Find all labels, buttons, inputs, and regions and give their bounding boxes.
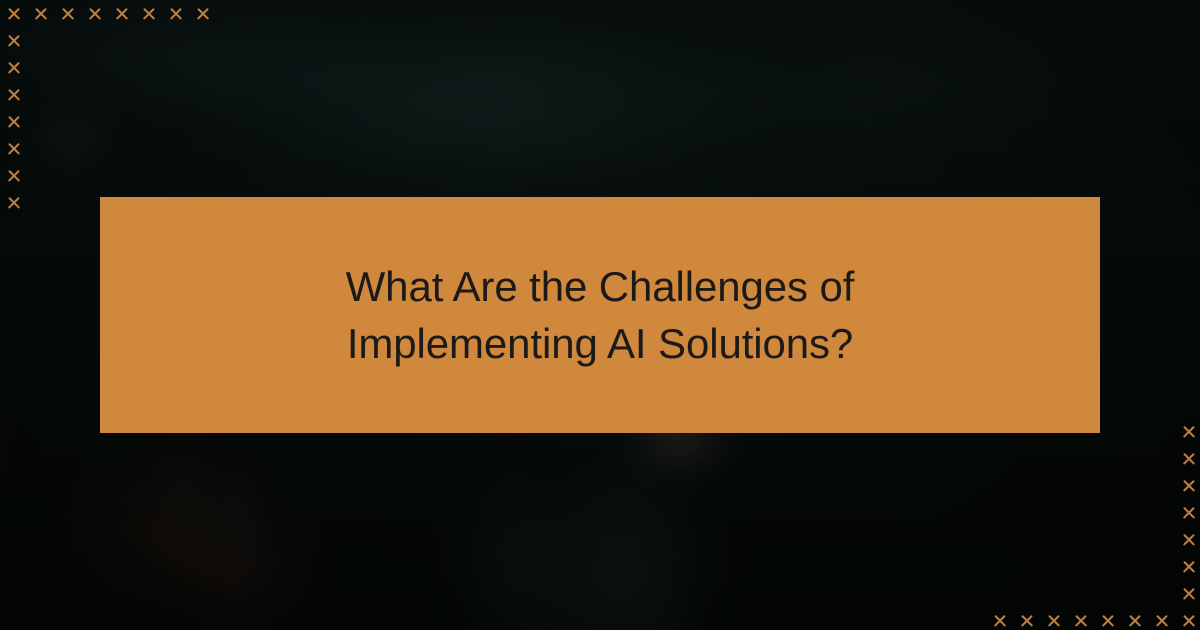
x-grid-spacer bbox=[108, 135, 135, 162]
x-grid-spacer bbox=[54, 135, 81, 162]
x-grid-spacer bbox=[81, 54, 108, 81]
x-mark-icon bbox=[1094, 607, 1121, 630]
x-grid-spacer bbox=[1121, 418, 1148, 445]
x-mark-icon bbox=[1040, 607, 1067, 630]
x-grid-spacer bbox=[986, 553, 1013, 580]
x-grid-spacer bbox=[1121, 553, 1148, 580]
x-grid-spacer bbox=[986, 580, 1013, 607]
x-mark-icon bbox=[1175, 445, 1200, 472]
x-grid-spacer bbox=[1013, 526, 1040, 553]
x-grid-spacer bbox=[1094, 580, 1121, 607]
x-grid-spacer bbox=[189, 135, 216, 162]
x-grid-spacer bbox=[162, 135, 189, 162]
x-grid-spacer bbox=[1013, 553, 1040, 580]
x-mark-icon bbox=[1067, 607, 1094, 630]
x-grid-spacer bbox=[189, 108, 216, 135]
x-grid-spacer bbox=[1121, 526, 1148, 553]
x-grid-spacer bbox=[162, 27, 189, 54]
x-grid-spacer bbox=[54, 108, 81, 135]
x-grid-spacer bbox=[27, 162, 54, 189]
x-grid-spacer bbox=[54, 27, 81, 54]
x-grid-spacer bbox=[1067, 580, 1094, 607]
x-grid-spacer bbox=[135, 108, 162, 135]
x-mark-icon bbox=[189, 0, 216, 27]
x-grid-spacer bbox=[81, 27, 108, 54]
x-grid-spacer bbox=[1094, 499, 1121, 526]
x-grid-spacer bbox=[1148, 580, 1175, 607]
x-grid-spacer bbox=[1148, 445, 1175, 472]
x-grid-spacer bbox=[135, 162, 162, 189]
x-grid-spacer bbox=[162, 162, 189, 189]
x-grid-spacer bbox=[1013, 472, 1040, 499]
x-grid-spacer bbox=[81, 81, 108, 108]
x-mark-icon bbox=[1175, 607, 1200, 630]
x-grid-spacer bbox=[162, 108, 189, 135]
x-grid-spacer bbox=[1094, 472, 1121, 499]
x-mark-icon bbox=[1013, 607, 1040, 630]
x-grid-spacer bbox=[1121, 445, 1148, 472]
x-grid-spacer bbox=[189, 54, 216, 81]
x-grid-spacer bbox=[54, 54, 81, 81]
x-grid-spacer bbox=[1013, 445, 1040, 472]
x-mark-icon bbox=[162, 0, 189, 27]
x-grid-spacer bbox=[1094, 445, 1121, 472]
x-mark-icon bbox=[54, 0, 81, 27]
x-grid-spacer bbox=[1067, 553, 1094, 580]
x-mark-icon bbox=[986, 607, 1013, 630]
social-card-canvas: What Are the Challenges of Implementing … bbox=[0, 0, 1200, 630]
x-grid-spacer bbox=[1148, 472, 1175, 499]
x-grid-spacer bbox=[27, 54, 54, 81]
x-grid-spacer bbox=[1040, 472, 1067, 499]
x-grid-spacer bbox=[1040, 499, 1067, 526]
x-grid-spacer bbox=[1148, 499, 1175, 526]
x-grid-spacer bbox=[108, 108, 135, 135]
x-mark-icon bbox=[1175, 526, 1200, 553]
x-grid-spacer bbox=[189, 162, 216, 189]
x-mark-icon bbox=[1175, 418, 1200, 445]
x-grid-spacer bbox=[1040, 553, 1067, 580]
x-grid-spacer bbox=[1094, 526, 1121, 553]
page-title: What Are the Challenges of Implementing … bbox=[220, 258, 980, 372]
x-grid-spacer bbox=[1121, 499, 1148, 526]
x-grid-spacer bbox=[986, 526, 1013, 553]
x-grid-spacer bbox=[135, 81, 162, 108]
x-grid-spacer bbox=[189, 81, 216, 108]
x-mark-icon bbox=[1175, 499, 1200, 526]
title-banner: What Are the Challenges of Implementing … bbox=[100, 197, 1100, 433]
x-mark-icon bbox=[81, 0, 108, 27]
x-grid-spacer bbox=[27, 108, 54, 135]
x-mark-icon bbox=[0, 0, 27, 27]
x-grid-spacer bbox=[1067, 499, 1094, 526]
x-grid-spacer bbox=[1040, 580, 1067, 607]
x-mark-icon bbox=[1175, 553, 1200, 580]
x-mark-icon bbox=[0, 54, 27, 81]
x-grid-spacer bbox=[27, 27, 54, 54]
x-grid-spacer bbox=[54, 162, 81, 189]
x-grid-spacer bbox=[27, 81, 54, 108]
x-grid-spacer bbox=[986, 499, 1013, 526]
x-grid-spacer bbox=[1148, 553, 1175, 580]
x-grid-spacer bbox=[986, 445, 1013, 472]
x-mark-icon bbox=[0, 135, 27, 162]
x-grid-spacer bbox=[108, 54, 135, 81]
x-grid-spacer bbox=[81, 108, 108, 135]
x-mark-icon bbox=[0, 189, 27, 216]
x-grid-spacer bbox=[189, 27, 216, 54]
x-grid-spacer bbox=[135, 27, 162, 54]
x-grid-spacer bbox=[162, 54, 189, 81]
x-grid-spacer bbox=[27, 189, 54, 216]
decorative-x-pattern-bottom-right bbox=[986, 418, 1200, 630]
x-grid-spacer bbox=[986, 472, 1013, 499]
x-grid-spacer bbox=[1094, 553, 1121, 580]
x-mark-icon bbox=[1148, 607, 1175, 630]
decorative-x-pattern-top-left bbox=[0, 0, 216, 216]
x-mark-icon bbox=[108, 0, 135, 27]
x-mark-icon bbox=[0, 108, 27, 135]
x-grid-spacer bbox=[1040, 445, 1067, 472]
x-mark-icon bbox=[1175, 472, 1200, 499]
x-grid-spacer bbox=[27, 135, 54, 162]
x-grid-spacer bbox=[108, 27, 135, 54]
x-mark-icon bbox=[135, 0, 162, 27]
x-mark-icon bbox=[27, 0, 54, 27]
x-mark-icon bbox=[0, 81, 27, 108]
x-grid-spacer bbox=[108, 162, 135, 189]
x-mark-icon bbox=[0, 27, 27, 54]
x-grid-spacer bbox=[1121, 580, 1148, 607]
x-grid-spacer bbox=[54, 189, 81, 216]
x-grid-spacer bbox=[81, 162, 108, 189]
x-grid-spacer bbox=[1013, 580, 1040, 607]
x-grid-spacer bbox=[108, 81, 135, 108]
x-grid-spacer bbox=[1121, 472, 1148, 499]
x-grid-spacer bbox=[1067, 526, 1094, 553]
x-grid-spacer bbox=[1148, 526, 1175, 553]
x-mark-icon bbox=[0, 162, 27, 189]
x-grid-spacer bbox=[1067, 445, 1094, 472]
x-mark-icon bbox=[1175, 580, 1200, 607]
x-grid-spacer bbox=[1067, 472, 1094, 499]
x-grid-spacer bbox=[54, 81, 81, 108]
x-grid-spacer bbox=[1148, 418, 1175, 445]
x-mark-icon bbox=[1121, 607, 1148, 630]
x-grid-spacer bbox=[81, 135, 108, 162]
x-grid-spacer bbox=[1040, 526, 1067, 553]
x-grid-spacer bbox=[135, 135, 162, 162]
x-grid-spacer bbox=[1013, 499, 1040, 526]
x-grid-spacer bbox=[135, 54, 162, 81]
x-grid-spacer bbox=[162, 81, 189, 108]
